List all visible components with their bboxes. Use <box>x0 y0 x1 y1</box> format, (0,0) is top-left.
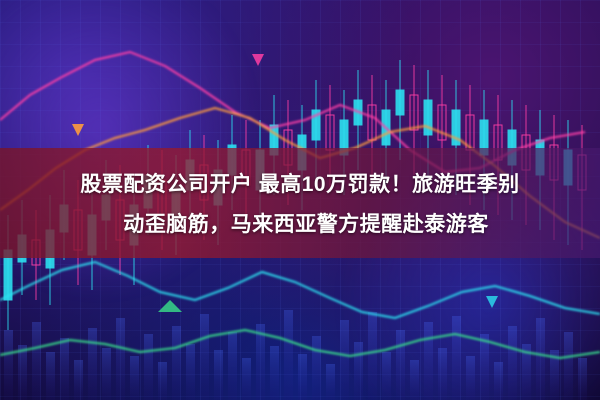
headline-text-block: 股票配资公司开户 最高10万罚款！旅游旺季别 动歪脑筋，马来西亚警方提醒赴泰游客 <box>0 148 600 258</box>
banner-image: 股票配资公司开户 最高10万罚款！旅游旺季别 动歪脑筋，马来西亚警方提醒赴泰游客 <box>0 0 600 400</box>
triangle-down-icon <box>486 296 498 308</box>
headline-line-1: 股票配资公司开户 最高10万罚款！旅游旺季别 <box>80 168 519 198</box>
trend-line-cyan-line <box>0 262 600 318</box>
triangle-down-icon <box>252 54 264 66</box>
volume-bars <box>4 310 587 400</box>
headline-line-2: 动歪脑筋，马来西亚警方提醒赴泰游客 <box>111 208 489 238</box>
triangle-down-icon <box>72 124 84 136</box>
candle-body <box>396 90 404 115</box>
candle-body <box>424 100 432 135</box>
triangle-up-icon <box>158 300 182 312</box>
